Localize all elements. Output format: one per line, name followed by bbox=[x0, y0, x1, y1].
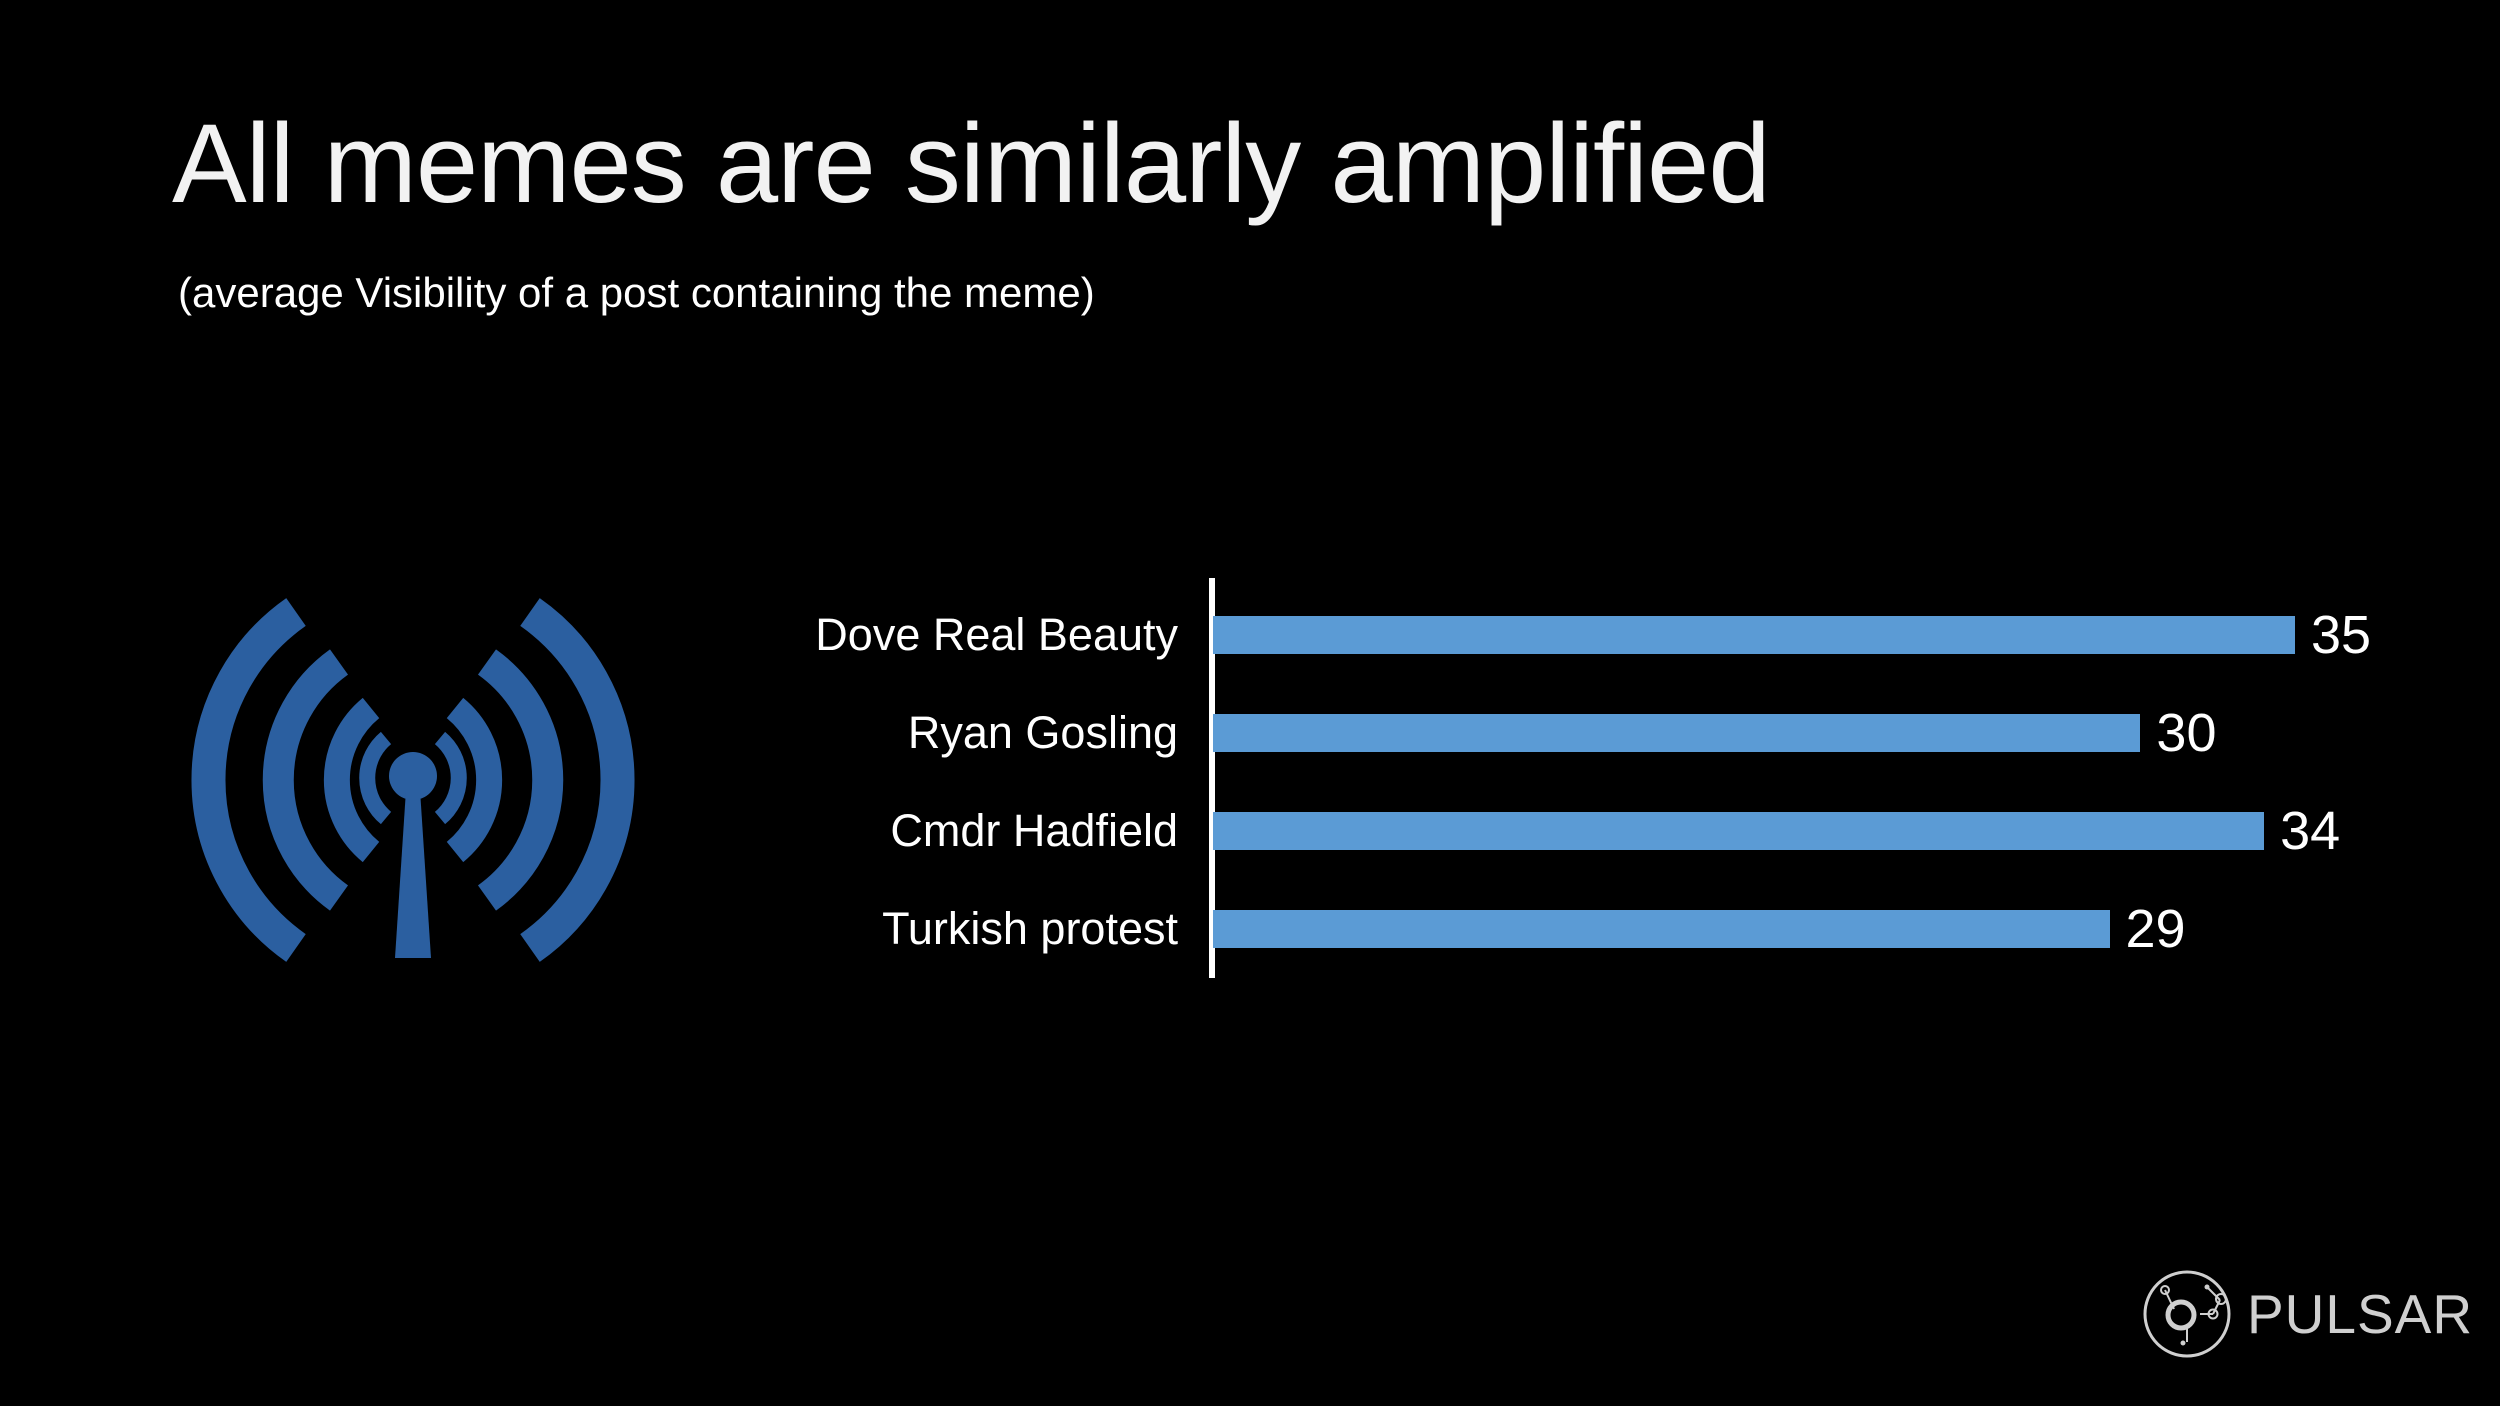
bar-fill bbox=[1213, 910, 2110, 948]
bar-track: 34 bbox=[1213, 812, 2340, 850]
bar-value-label: 35 bbox=[2311, 616, 2371, 654]
pulsar-logo: PULSAR bbox=[2141, 1268, 2473, 1360]
bar-row: Turkish protest 29 bbox=[0, 880, 2500, 978]
bar-category-label: Cmdr Hadfield bbox=[890, 805, 1178, 857]
bar-row: Ryan Gosling 30 bbox=[0, 684, 2500, 782]
bar-track: 30 bbox=[1213, 714, 2217, 752]
bar-category-label: Dove Real Beauty bbox=[815, 609, 1178, 661]
bar-value-label: 34 bbox=[2280, 812, 2340, 850]
bar-fill bbox=[1213, 812, 2264, 850]
bar-value-label: 30 bbox=[2156, 714, 2216, 752]
bar-fill bbox=[1213, 714, 2140, 752]
pulsar-network-node-icon bbox=[2141, 1268, 2233, 1360]
bar-chart: Dove Real Beauty 35 Ryan Gosling 30 Cmdr… bbox=[0, 0, 2500, 1406]
bar-track: 29 bbox=[1213, 910, 2186, 948]
bar-category-label: Ryan Gosling bbox=[908, 707, 1178, 759]
bar-value-label: 29 bbox=[2126, 910, 2186, 948]
bar-row: Dove Real Beauty 35 bbox=[0, 586, 2500, 684]
bar-fill bbox=[1213, 616, 2295, 654]
bar-rows: Dove Real Beauty 35 Ryan Gosling 30 Cmdr… bbox=[0, 586, 2500, 978]
bar-category-label: Turkish protest bbox=[882, 903, 1178, 955]
pulsar-wordmark: PULSAR bbox=[2247, 1287, 2473, 1342]
bar-track: 35 bbox=[1213, 616, 2371, 654]
bar-row: Cmdr Hadfield 34 bbox=[0, 782, 2500, 880]
slide-root: All memes are similarly amplified (avera… bbox=[0, 0, 2500, 1406]
